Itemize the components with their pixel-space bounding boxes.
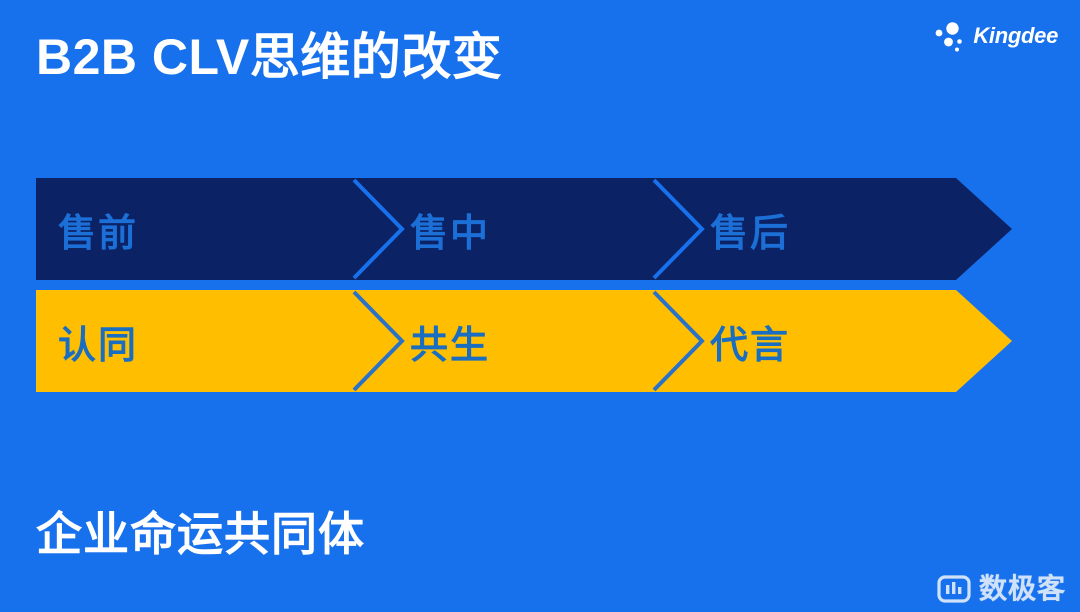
footer-headline: 企业命运共同体 <box>36 508 365 561</box>
customer-value-band-shape <box>36 290 1012 392</box>
shujike-logo-icon <box>937 574 971 604</box>
sales-stage-band: 售前 售中 售后 <box>36 178 1012 280</box>
brand-name: Kingdee <box>973 25 1058 47</box>
slide-canvas: Kingdee B2B CLV思维的改变 售前 售中 售后 认同 共生 代言 企… <box>0 0 1080 612</box>
sales-stage-band-shape <box>36 178 1012 280</box>
brand-logo: Kingdee <box>932 18 1058 54</box>
watermark-text: 数极客 <box>979 575 1066 603</box>
kingdee-dots-icon <box>932 20 966 52</box>
watermark: 数极客 <box>937 574 1066 604</box>
customer-value-band: 认同 共生 代言 <box>36 290 1012 392</box>
page-title: B2B CLV思维的改变 <box>36 27 502 87</box>
